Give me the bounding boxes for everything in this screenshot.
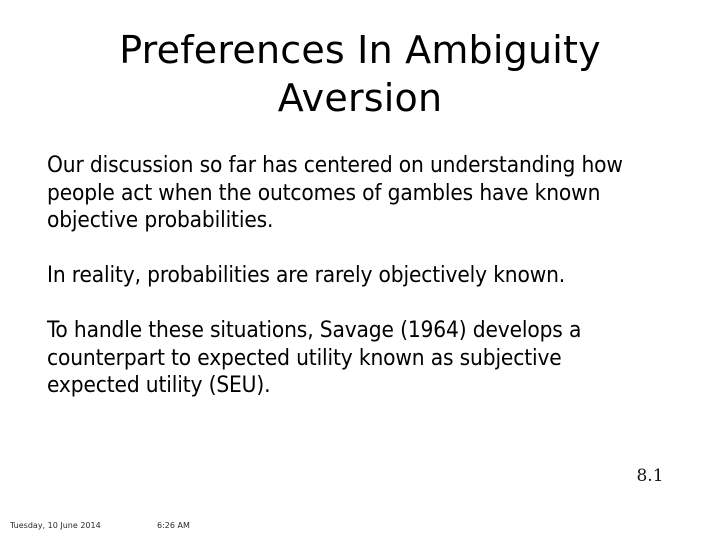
slide-footer: Tuesday, 10 June 2014 6:26 AM: [10, 520, 410, 534]
slide-title: Preferences In Ambiguity Aversion: [60, 26, 660, 122]
slide-title-line-2: Aversion: [60, 74, 660, 122]
body-paragraph-2: In reality, probabilities are rarely obj…: [47, 262, 657, 290]
presentation-slide: Preferences In Ambiguity Aversion Our di…: [0, 0, 720, 540]
paragraph-spacer: [47, 235, 657, 263]
paragraph-spacer: [47, 290, 657, 318]
footer-date: Tuesday, 10 June 2014: [10, 520, 101, 531]
slide-body: Our discussion so far has centered on un…: [47, 152, 657, 400]
footer-time: 6:26 AM: [157, 520, 190, 531]
body-paragraph-1: Our discussion so far has centered on un…: [47, 152, 657, 235]
slide-title-line-1: Preferences In Ambiguity: [60, 26, 660, 74]
slide-number: 8.1: [620, 466, 680, 486]
body-paragraph-3: To handle these situations, Savage (1964…: [47, 317, 657, 400]
